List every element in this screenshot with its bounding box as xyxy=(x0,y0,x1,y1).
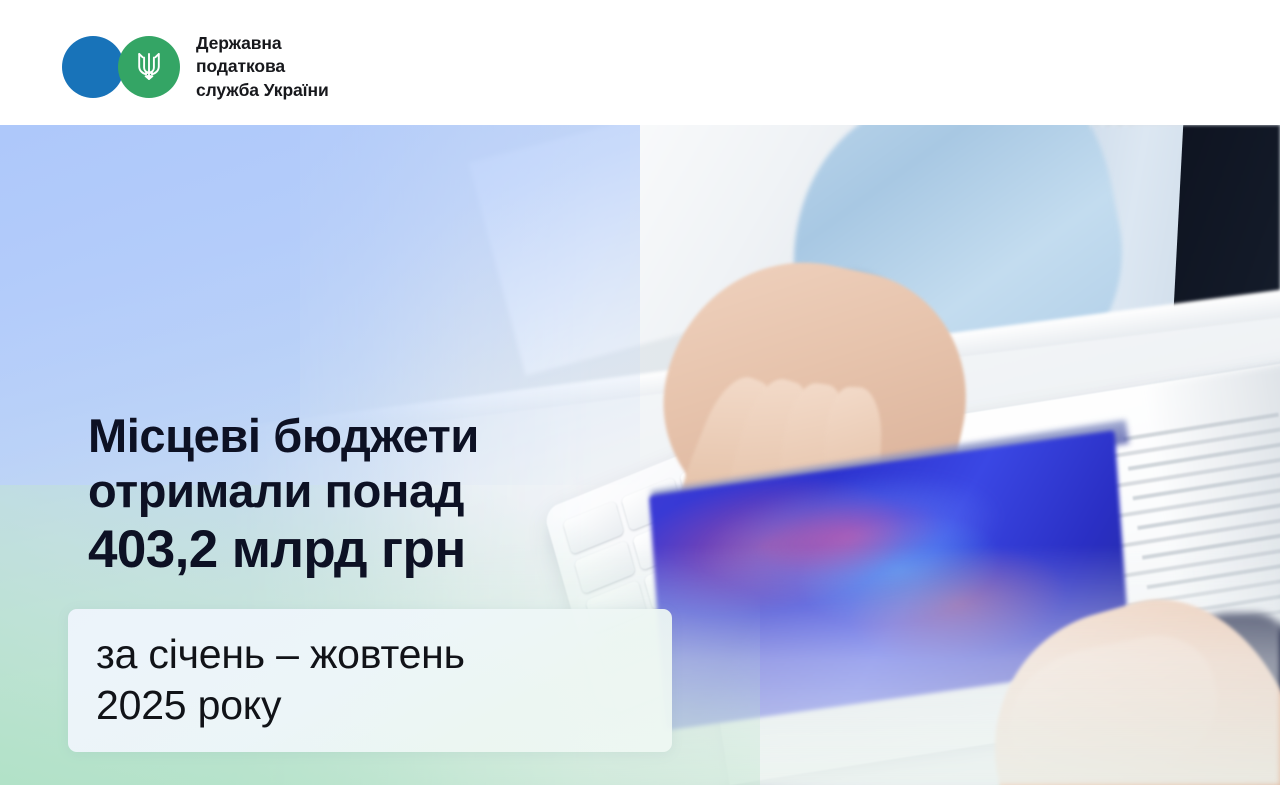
logo-circles xyxy=(62,36,180,98)
header-band: Державна податкова служба України xyxy=(0,0,1280,125)
subtitle-line-2: 2025 року xyxy=(96,680,465,731)
ukraine-trident-icon xyxy=(134,50,164,84)
subtitle-text: за січень – жовтень 2025 року xyxy=(96,629,465,731)
blue-circle-icon xyxy=(62,36,124,98)
page-title: Місцеві бюджети отримали понад 403,2 млр… xyxy=(88,409,479,581)
headline-line-2: отримали понад xyxy=(88,464,479,519)
headline-amount: 403,2 млрд грн xyxy=(88,519,479,581)
main-stage: Місцеві бюджети отримали понад 403,2 млр… xyxy=(0,125,1280,785)
org-name-line-3: служба України xyxy=(196,79,329,102)
subtitle-card: за січень – жовтень 2025 року xyxy=(68,609,672,752)
org-name-line-1: Державна xyxy=(196,32,329,55)
subtitle-line-1: за січень – жовтень xyxy=(96,629,465,680)
org-name-line-2: податкова xyxy=(196,55,329,78)
organization-name: Державна податкова служба України xyxy=(196,32,329,102)
organization-logo[interactable]: Державна податкова служба України xyxy=(62,32,329,102)
infographic-poster: Державна податкова служба України xyxy=(0,0,1280,785)
green-circle-icon xyxy=(118,36,180,98)
headline-line-1: Місцеві бюджети xyxy=(88,409,479,464)
